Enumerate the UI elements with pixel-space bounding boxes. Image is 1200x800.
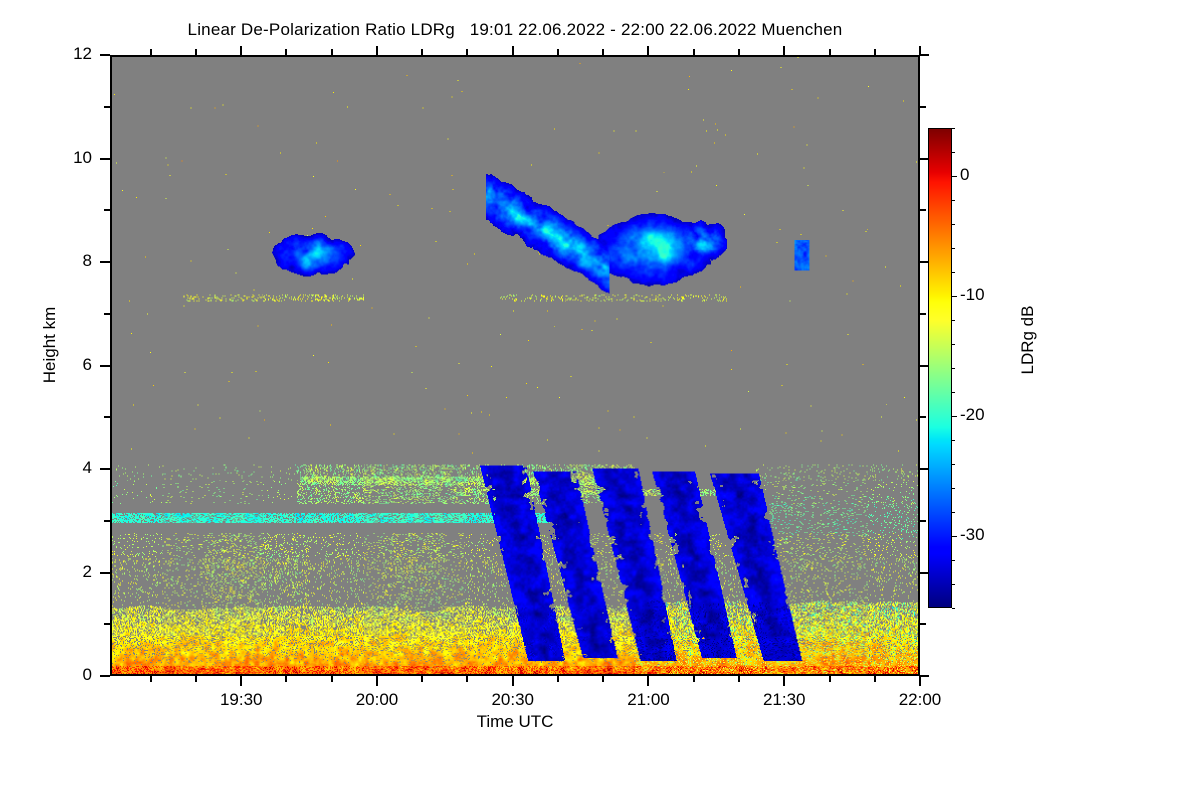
y-tick-label: 12 bbox=[52, 44, 92, 64]
y-tick-minor bbox=[104, 623, 110, 625]
colorbar-tick-minor bbox=[952, 320, 955, 321]
colorbar-tick-minor bbox=[952, 464, 955, 465]
x-tick-minor bbox=[150, 676, 152, 682]
x-tick-minor-top bbox=[693, 49, 695, 55]
y-tick-major-right bbox=[920, 675, 929, 677]
x-tick-minor bbox=[693, 676, 695, 682]
x-tick-major-top bbox=[512, 46, 514, 55]
colorbar-tick-minor bbox=[952, 224, 955, 225]
y-tick-major bbox=[100, 675, 110, 677]
y-tick-major bbox=[100, 158, 110, 160]
colorbar-tick-minor bbox=[952, 512, 955, 513]
chart-canvas: Linear De-Polarization Ratio LDRg 19:01 … bbox=[0, 0, 1200, 800]
x-tick-major-top bbox=[376, 46, 378, 55]
colorbar-tick-minor bbox=[952, 272, 955, 273]
colorbar-tick-minor bbox=[952, 488, 955, 489]
x-tick-minor bbox=[829, 676, 831, 682]
colorbar-tick-label: 0 bbox=[960, 165, 969, 185]
colorbar-tick bbox=[952, 296, 957, 297]
x-tick-minor-top bbox=[466, 49, 468, 55]
x-tick-minor-top bbox=[738, 49, 740, 55]
x-tick-minor bbox=[874, 676, 876, 682]
x-tick-label: 20:00 bbox=[332, 690, 422, 710]
x-tick-major bbox=[240, 676, 242, 686]
x-tick-minor-top bbox=[421, 49, 423, 55]
heatmap-plot-area bbox=[110, 55, 920, 676]
x-tick-minor-top bbox=[150, 49, 152, 55]
colorbar-tick-minor bbox=[952, 584, 955, 585]
x-tick-minor-top bbox=[874, 49, 876, 55]
colorbar-tick bbox=[952, 416, 957, 417]
y-tick-minor-right bbox=[920, 416, 926, 418]
colorbar-tick-minor bbox=[952, 344, 955, 345]
colorbar-tick bbox=[952, 536, 957, 537]
y-tick-minor-right bbox=[920, 520, 926, 522]
colorbar-tick-minor bbox=[952, 440, 955, 441]
x-tick-label: 20:30 bbox=[468, 690, 558, 710]
x-tick-major bbox=[919, 676, 921, 686]
y-tick-minor bbox=[104, 106, 110, 108]
y-axis-title: Height km bbox=[40, 285, 60, 405]
y-tick-minor bbox=[104, 313, 110, 315]
x-tick-major-top bbox=[240, 46, 242, 55]
x-tick-label: 22:00 bbox=[875, 690, 965, 710]
y-tick-minor-right bbox=[920, 209, 926, 211]
y-tick-major bbox=[100, 54, 110, 56]
y-tick-minor bbox=[104, 416, 110, 418]
y-tick-major bbox=[100, 468, 110, 470]
x-tick-minor bbox=[466, 676, 468, 682]
colorbar-tick bbox=[952, 176, 957, 177]
x-tick-minor bbox=[557, 676, 559, 682]
colorbar-tick-minor bbox=[952, 392, 955, 393]
y-tick-minor-right bbox=[920, 106, 926, 108]
colorbar-tick-label: -10 bbox=[960, 285, 985, 305]
y-tick-label: 4 bbox=[52, 458, 92, 478]
y-tick-minor bbox=[104, 520, 110, 522]
colorbar-tick-minor bbox=[952, 560, 955, 561]
y-tick-minor bbox=[104, 209, 110, 211]
x-tick-minor-top bbox=[195, 49, 197, 55]
y-tick-label: 8 bbox=[52, 251, 92, 271]
y-tick-label: 0 bbox=[52, 665, 92, 685]
colorbar-tick-minor bbox=[952, 152, 955, 153]
x-tick-major-top bbox=[647, 46, 649, 55]
y-tick-label: 10 bbox=[52, 148, 92, 168]
y-tick-label: 2 bbox=[52, 562, 92, 582]
colorbar-tick-minor bbox=[952, 608, 955, 609]
x-tick-major bbox=[512, 676, 514, 686]
colorbar-tick-label: -30 bbox=[960, 525, 985, 545]
x-tick-minor bbox=[602, 676, 604, 682]
x-tick-minor bbox=[285, 676, 287, 682]
colorbar-tick-minor bbox=[952, 128, 955, 129]
x-tick-label: 21:30 bbox=[739, 690, 829, 710]
y-tick-minor-right bbox=[920, 313, 926, 315]
colorbar-tick-label: -20 bbox=[960, 405, 985, 425]
x-axis-title: Time UTC bbox=[110, 712, 920, 732]
y-tick-major-right bbox=[920, 54, 929, 56]
x-tick-minor bbox=[331, 676, 333, 682]
x-tick-minor-top bbox=[331, 49, 333, 55]
y-tick-minor-right bbox=[920, 623, 926, 625]
y-tick-major bbox=[100, 261, 110, 263]
x-tick-label: 19:30 bbox=[196, 690, 286, 710]
x-tick-major bbox=[376, 676, 378, 686]
x-tick-major-top bbox=[783, 46, 785, 55]
x-tick-minor-top bbox=[829, 49, 831, 55]
x-tick-major bbox=[783, 676, 785, 686]
x-tick-minor bbox=[738, 676, 740, 682]
x-tick-major bbox=[647, 676, 649, 686]
colorbar-tick-minor bbox=[952, 200, 955, 201]
x-tick-minor bbox=[421, 676, 423, 682]
colorbar-tick-minor bbox=[952, 368, 955, 369]
x-tick-label: 21:00 bbox=[603, 690, 693, 710]
chart-title: Linear De-Polarization Ratio LDRg 19:01 … bbox=[0, 20, 1030, 40]
y-tick-major bbox=[100, 572, 110, 574]
x-tick-minor-top bbox=[557, 49, 559, 55]
colorbar-tick-minor bbox=[952, 248, 955, 249]
y-tick-major bbox=[100, 365, 110, 367]
x-tick-minor-top bbox=[602, 49, 604, 55]
x-tick-minor bbox=[195, 676, 197, 682]
x-tick-minor-top bbox=[285, 49, 287, 55]
colorbar bbox=[928, 128, 952, 608]
colorbar-title: LDRg dB bbox=[1018, 260, 1038, 420]
